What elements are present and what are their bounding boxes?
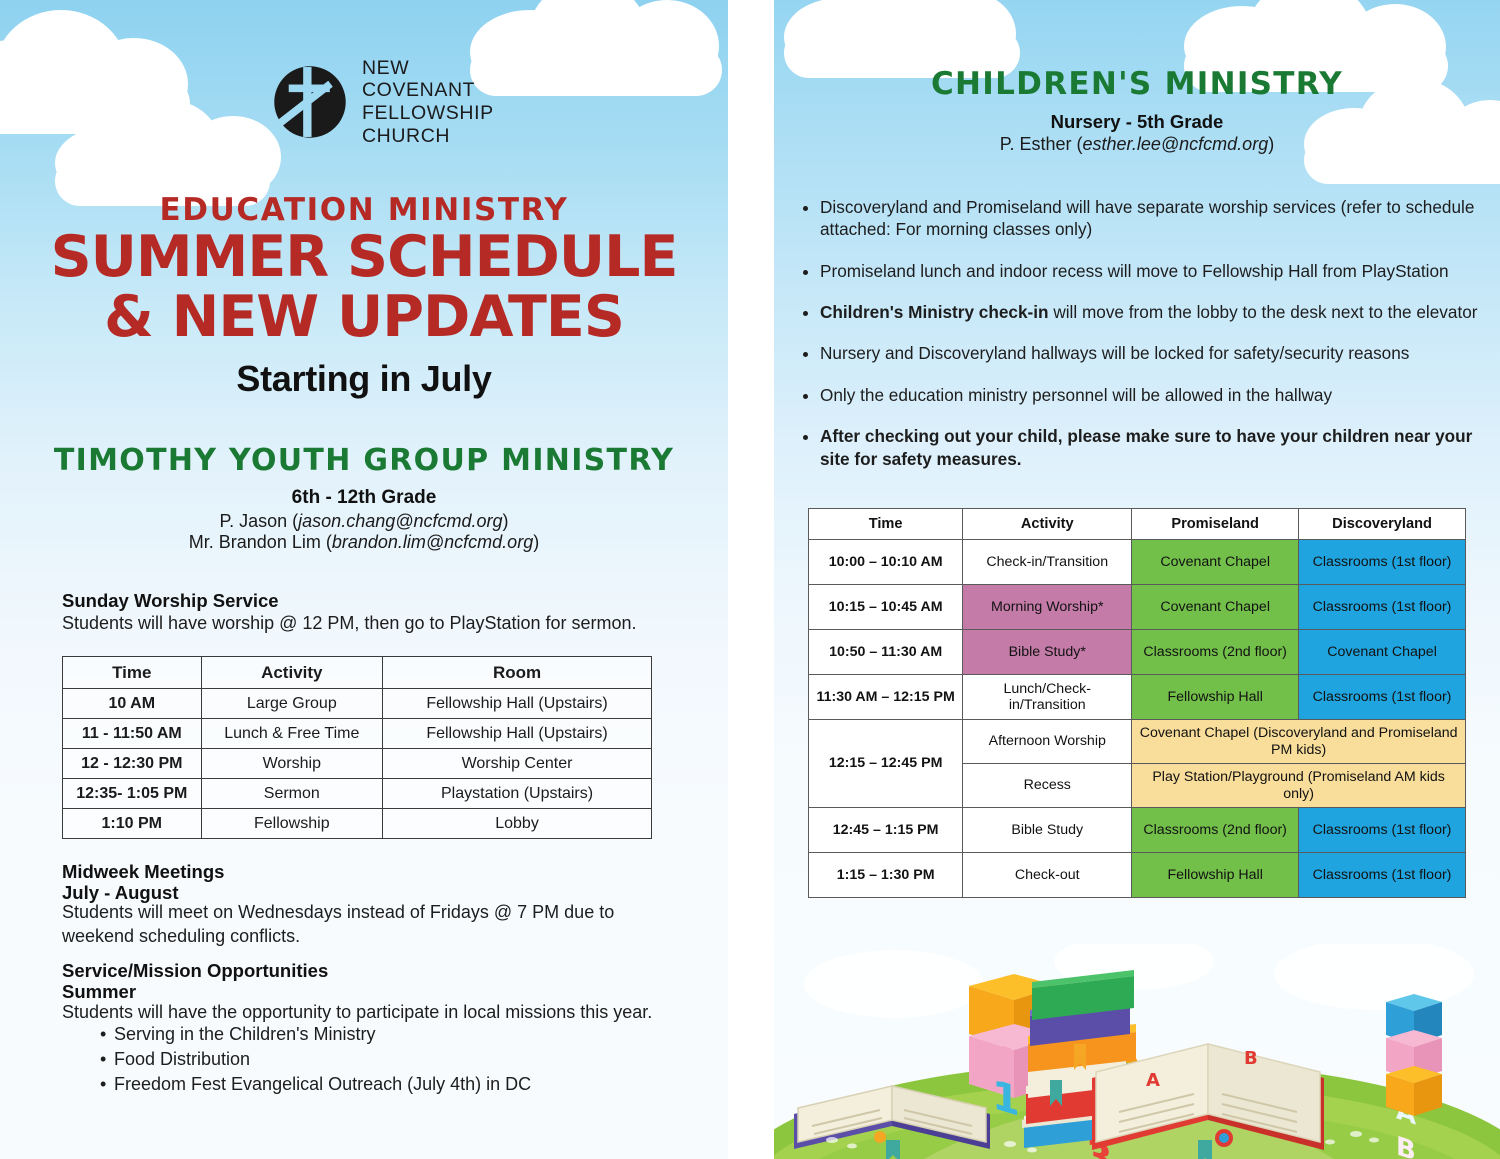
cell-discoveryland: Classrooms (1st floor) xyxy=(1299,585,1466,630)
cm-leader-email[interactable]: esther.lee@ncfcmd.org xyxy=(1083,134,1269,154)
cell-activity: Morning Worship* xyxy=(963,585,1132,630)
childrens-ministry-notes-list: Discoveryland and Promiseland will have … xyxy=(798,196,1500,489)
youth-leader-2: Mr. Brandon Lim (brandon.lim@ncfcmd.org) xyxy=(0,532,728,553)
sunday-worship-heading: Sunday Worship Service xyxy=(62,590,279,612)
left-panel: NEW COVENANT FELLOWSHIP CHURCH EDUCATION… xyxy=(0,0,728,1159)
list-item: Children's Ministry check-in will move f… xyxy=(820,301,1500,323)
table-row: 10:00 – 10:10 AM Check-in/Transition Cov… xyxy=(809,540,1466,585)
cell-time: 10 AM xyxy=(63,689,202,719)
list-item: Nursery and Discoveryland hallways will … xyxy=(820,342,1500,364)
cell-discoveryland: Classrooms (1st floor) xyxy=(1299,808,1466,853)
table-row: 12:35- 1:05 PM Sermon Playstation (Upsta… xyxy=(63,779,652,809)
cell-merged-location: Play Station/Playground (Promiseland AM … xyxy=(1132,764,1466,808)
cm-leader-close: ) xyxy=(1268,134,1274,154)
logo-line-1: NEW xyxy=(362,57,494,80)
flyer-page: NEW COVENANT FELLOWSHIP CHURCH EDUCATION… xyxy=(0,0,1500,1159)
youth-leader-2-close: ) xyxy=(533,532,539,552)
cell-activity: Lunch/Check-in/Transition xyxy=(963,675,1132,720)
childrens-ministry-grade: Nursery - 5th Grade xyxy=(774,111,1500,133)
cell-promiseland: Covenant Chapel xyxy=(1132,585,1299,630)
list-item: Freedom Fest Evangelical Outreach (July … xyxy=(62,1072,702,1097)
cell-activity: Bible Study xyxy=(963,808,1132,853)
cell-discoveryland: Covenant Chapel xyxy=(1299,630,1466,675)
youth-leader-1-name: P. Jason ( xyxy=(219,511,298,531)
cell-activity: Large Group xyxy=(201,689,383,719)
svg-text:1: 1 xyxy=(992,1071,1020,1126)
logo-line-3: FELLOWSHIP xyxy=(362,102,494,125)
cell-activity: Lunch & Free Time xyxy=(201,719,383,749)
cell-activity: Worship xyxy=(201,749,383,779)
cell-discoveryland: Classrooms (1st floor) xyxy=(1299,540,1466,585)
table-row: 12 - 12:30 PM Worship Worship Center xyxy=(63,749,652,779)
cell-activity: Bible Study* xyxy=(963,630,1132,675)
childrens-ministry-leader: P. Esther (esther.lee@ncfcmd.org) xyxy=(774,134,1500,155)
cell-promiseland: Classrooms (2nd floor) xyxy=(1132,630,1299,675)
cell-merged-location: Covenant Chapel (Discoveryland and Promi… xyxy=(1132,720,1466,764)
flyer-title-line-2: & NEW UPDATES xyxy=(0,288,728,348)
cell-promiseland: Classrooms (2nd floor) xyxy=(1132,808,1299,853)
table-row: 12:15 – 12:45 PM Afternoon Worship Coven… xyxy=(809,720,1466,764)
cell-room: Worship Center xyxy=(383,749,652,779)
service-heading: Service/Mission Opportunities xyxy=(62,960,328,982)
cell-time: 10:00 – 10:10 AM xyxy=(809,540,963,585)
cell-time: 12:35- 1:05 PM xyxy=(63,779,202,809)
cell-time: 11:30 AM – 12:15 PM xyxy=(809,675,963,720)
cell-time: 10:50 – 11:30 AM xyxy=(809,630,963,675)
cell-room: Lobby xyxy=(383,809,652,839)
youth-leader-1: P. Jason (jason.chang@ncfcmd.org) xyxy=(0,511,728,532)
cell-room: Fellowship Hall (Upstairs) xyxy=(383,689,652,719)
education-ministry-eyebrow: EDUCATION MINISTRY xyxy=(0,192,728,228)
note-bold-prefix: Children's Ministry check-in xyxy=(820,302,1049,322)
flyer-subtitle: Starting in July xyxy=(0,358,728,400)
cell-time: 1:15 – 1:30 PM xyxy=(809,853,963,898)
cell-promiseland: Fellowship Hall xyxy=(1132,675,1299,720)
th-activity: Activity xyxy=(963,509,1132,540)
table-header-row: Time Activity Room xyxy=(63,657,652,689)
th-discoveryland: Discoveryland xyxy=(1299,509,1466,540)
cell-activity: Fellowship xyxy=(201,809,383,839)
svg-text:B: B xyxy=(1244,1048,1258,1069)
th-room: Room xyxy=(383,657,652,689)
table-row: 10:50 – 11:30 AM Bible Study* Classrooms… xyxy=(809,630,1466,675)
cell-activity: Recess xyxy=(963,764,1132,808)
panel-divider xyxy=(728,0,774,1159)
church-logo: NEW COVENANT FELLOWSHIP CHURCH xyxy=(272,48,492,156)
service-subheading: Summer xyxy=(62,981,136,1003)
youth-leader-1-close: ) xyxy=(503,511,509,531)
cm-leader-name: P. Esther ( xyxy=(1000,134,1083,154)
note-rest: will move from the lobby to the desk nex… xyxy=(1049,302,1478,322)
logo-wordmark: NEW COVENANT FELLOWSHIP CHURCH xyxy=(362,57,494,147)
table-row: 12:45 – 1:15 PM Bible Study Classrooms (… xyxy=(809,808,1466,853)
cell-activity: Afternoon Worship xyxy=(963,720,1132,764)
list-item: Food Distribution xyxy=(62,1047,702,1072)
cell-activity: Sermon xyxy=(201,779,383,809)
cell-discoveryland: Classrooms (1st floor) xyxy=(1299,675,1466,720)
church-cross-circle-logo-icon xyxy=(272,64,348,140)
cell-time: 11 - 11:50 AM xyxy=(63,719,202,749)
logo-line-2: COVENANT xyxy=(362,79,494,102)
right-panel: CHILDREN'S MINISTRY Nursery - 5th Grade … xyxy=(774,0,1500,1159)
youth-leader-2-name: Mr. Brandon Lim ( xyxy=(189,532,332,552)
cell-promiseland: Covenant Chapel xyxy=(1132,540,1299,585)
th-time: Time xyxy=(63,657,202,689)
flyer-title-line-1: SUMMER SCHEDULE xyxy=(0,228,728,288)
cell-promiseland: Fellowship Hall xyxy=(1132,853,1299,898)
youth-leader-2-email[interactable]: brandon.lim@ncfcmd.org xyxy=(332,532,533,552)
cell-activity: Check-in/Transition xyxy=(963,540,1132,585)
cell-activity: Check-out xyxy=(963,853,1132,898)
sunday-worship-body: Students will have worship @ 12 PM, then… xyxy=(62,612,702,636)
list-item: Serving in the Children's Ministry xyxy=(62,1022,702,1047)
list-item: Promiseland lunch and indoor recess will… xyxy=(820,260,1500,282)
cell-discoveryland: Classrooms (1st floor) xyxy=(1299,853,1466,898)
youth-leader-1-email[interactable]: jason.chang@ncfcmd.org xyxy=(298,511,502,531)
th-activity: Activity xyxy=(201,657,383,689)
cell-time: 12:45 – 1:15 PM xyxy=(809,808,963,853)
list-item: Only the education ministry personnel wi… xyxy=(820,384,1500,406)
cell-time: 1:10 PM xyxy=(63,809,202,839)
midweek-body: Students will meet on Wednesdays instead… xyxy=(62,901,672,949)
service-opportunities-list: Serving in the Children's Ministry Food … xyxy=(62,1022,702,1096)
cell-room: Playstation (Upstairs) xyxy=(383,779,652,809)
flyer-title: SUMMER SCHEDULE & NEW UPDATES xyxy=(0,228,728,348)
th-time: Time xyxy=(809,509,963,540)
table-header-row: Time Activity Promiseland Discoveryland xyxy=(809,509,1466,540)
books-and-blocks-illustration: 2 1 3 xyxy=(774,944,1500,1159)
table-row: 11:30 AM – 12:15 PM Lunch/Check-in/Trans… xyxy=(809,675,1466,720)
th-promiseland: Promiseland xyxy=(1132,509,1299,540)
youth-grade-range: 6th - 12th Grade xyxy=(0,487,728,509)
table-row: 10:15 – 10:45 AM Morning Worship* Covena… xyxy=(809,585,1466,630)
logo-line-4: CHURCH xyxy=(362,125,494,148)
cell-time: 12:15 – 12:45 PM xyxy=(809,720,963,808)
list-item: Discoveryland and Promiseland will have … xyxy=(820,196,1500,241)
table-row: 1:10 PM Fellowship Lobby xyxy=(63,809,652,839)
childrens-ministry-schedule-table: Time Activity Promiseland Discoveryland … xyxy=(808,508,1466,898)
list-item: After checking out your child, please ma… xyxy=(820,425,1500,470)
youth-schedule-table: Time Activity Room 10 AM Large Group Fel… xyxy=(62,656,652,839)
table-row: 1:15 – 1:30 PM Check-out Fellowship Hall… xyxy=(809,853,1466,898)
childrens-ministry-heading: CHILDREN'S MINISTRY xyxy=(774,66,1500,102)
svg-text:A: A xyxy=(1146,1070,1160,1091)
cell-time: 12 - 12:30 PM xyxy=(63,749,202,779)
cell-room: Fellowship Hall (Upstairs) xyxy=(383,719,652,749)
table-row: 11 - 11:50 AM Lunch & Free Time Fellowsh… xyxy=(63,719,652,749)
timothy-youth-heading: TIMOTHY YOUTH GROUP MINISTRY xyxy=(0,443,728,478)
table-row: 10 AM Large Group Fellowship Hall (Upsta… xyxy=(63,689,652,719)
midweek-heading: Midweek Meetings xyxy=(62,861,224,883)
cell-time: 10:15 – 10:45 AM xyxy=(809,585,963,630)
